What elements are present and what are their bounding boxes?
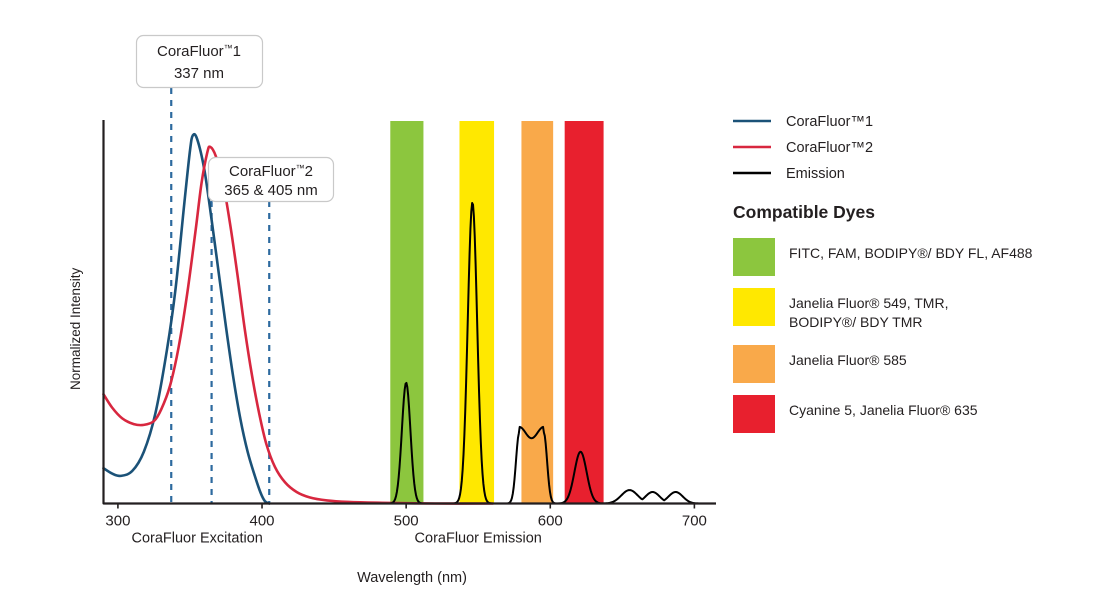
corafluor2-callout: CoraFluor™2 365 & 405 nm bbox=[209, 158, 334, 202]
legend-label-2: Emission bbox=[786, 166, 845, 182]
dye-label-2-line-0: Janelia Fluor® 585 bbox=[789, 352, 907, 368]
excitation-range-label: CoraFluor Excitation bbox=[131, 531, 262, 547]
dye-swatch-3 bbox=[733, 395, 775, 433]
x-tick-label-500: 500 bbox=[394, 513, 419, 530]
x-tick-label-300: 300 bbox=[105, 513, 130, 530]
series-legend: CoraFluor™1CoraFluor™2Emission bbox=[733, 114, 873, 182]
dye-label-0-line-0: FITC, FAM, BODIPY®/ BDY FL, AF488 bbox=[789, 245, 1033, 261]
red-band bbox=[565, 121, 604, 504]
x-axis-title: Wavelength (nm) bbox=[357, 570, 467, 586]
compatible-dyes-list: FITC, FAM, BODIPY®/ BDY FL, AF488Janelia… bbox=[733, 238, 1033, 433]
orange-band bbox=[521, 121, 553, 504]
x-axis-section-labels-group: CoraFluor ExcitationCoraFluor Emission bbox=[131, 531, 541, 547]
spectral-chart-figure: 300400500600700 Normalized Intensity Cor… bbox=[0, 0, 1110, 612]
dye-label-3-line-0: Cyanine 5, Janelia Fluor® 635 bbox=[789, 402, 978, 418]
dye-swatch-1 bbox=[733, 288, 775, 326]
dye-label-1-line-1: BODIPY®/ BDY TMR bbox=[789, 314, 923, 330]
chart-svg: 300400500600700 Normalized Intensity Cor… bbox=[0, 0, 1110, 612]
y-axis-title: Normalized Intensity bbox=[68, 267, 83, 390]
green-band bbox=[390, 121, 423, 504]
corafluor2-callout-line2: 365 & 405 nm bbox=[224, 182, 317, 199]
x-axis-ticks-group: 300400500600700 bbox=[105, 504, 707, 530]
dye-swatch-0 bbox=[733, 238, 775, 276]
legend-label-1: CoraFluor™2 bbox=[786, 140, 873, 156]
dye-swatch-2 bbox=[733, 345, 775, 383]
dye-label-1-line-0: Janelia Fluor® 549, TMR, bbox=[789, 295, 948, 311]
legend-label-0: CoraFluor™1 bbox=[786, 114, 873, 130]
x-tick-label-400: 400 bbox=[250, 513, 275, 530]
corafluor1-callout-line2: 337 nm bbox=[174, 65, 224, 82]
compatible-dyes-heading: Compatible Dyes bbox=[733, 202, 875, 222]
corafluor1-callout: CoraFluor™1 337 nm bbox=[137, 36, 263, 88]
x-tick-label-600: 600 bbox=[538, 513, 563, 530]
emission-bands-group bbox=[390, 121, 603, 504]
emission-range-label: CoraFluor Emission bbox=[415, 531, 542, 547]
x-tick-label-700: 700 bbox=[682, 513, 707, 530]
